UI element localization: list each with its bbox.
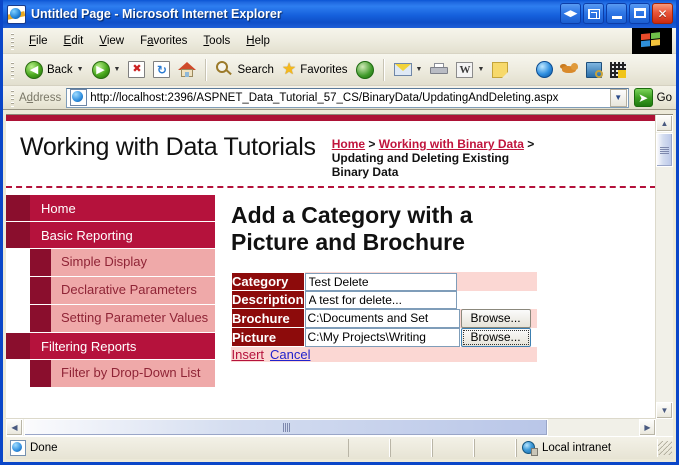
encarta-icon — [610, 62, 626, 78]
table-row: Description — [232, 291, 537, 309]
sidebar-item-label: Declarative Parameters — [51, 277, 215, 304]
notes-icon — [492, 62, 508, 78]
history-button[interactable] — [352, 57, 378, 83]
windows-flag-icon — [641, 32, 663, 50]
sidebar-tab-accent — [30, 360, 51, 387]
sidebar-nav: Home Basic Reporting Simple Display Decl… — [6, 188, 219, 388]
back-button[interactable]: ◀ Back ▼ — [21, 57, 88, 83]
horizontal-scrollbar[interactable]: ◀ ▶ — [6, 418, 656, 436]
page-content: Working with Data Tutorials Home > Worki… — [6, 115, 656, 419]
sidebar-tab-accent — [30, 277, 51, 304]
category-input[interactable] — [305, 273, 457, 291]
description-input[interactable] — [305, 291, 457, 309]
menu-file[interactable]: File — [21, 32, 56, 50]
breadcrumb-sep-1: > — [365, 137, 379, 151]
restore-window-button[interactable] — [583, 3, 604, 24]
maximize-button[interactable] — [629, 3, 650, 24]
menu-file-label-rest: ile — [36, 35, 48, 47]
forward-dropdown-icon[interactable]: ▼ — [114, 66, 121, 73]
insert-link[interactable]: Insert — [232, 347, 265, 362]
menu-favorites[interactable]: Favorites — [132, 32, 195, 50]
page-viewport: Working with Data Tutorials Home > Worki… — [6, 114, 673, 436]
sidebar-item-label: Setting Parameter Values — [51, 305, 215, 332]
category-field-cell — [304, 273, 457, 291]
table-row: Brochure C:\Documents and Set Browse... — [232, 309, 537, 328]
category-label: Category — [232, 273, 305, 291]
table-row: Category — [232, 273, 537, 291]
breadcrumb-sep-2: > — [524, 137, 534, 151]
menu-view[interactable]: View — [91, 32, 132, 50]
minimize-button[interactable] — [606, 3, 627, 24]
refresh-button[interactable]: ↻ — [149, 57, 174, 83]
status-panel-3 — [432, 439, 474, 457]
forward-button[interactable]: ▶ ▼ — [88, 57, 125, 83]
main-content: Add a Category with a Picture and Brochu… — [219, 188, 656, 362]
page-header: Working with Data Tutorials Home > Worki… — [6, 121, 656, 188]
history-icon — [356, 61, 374, 79]
favorites-button-label: Favorites — [300, 64, 347, 76]
sidebar-item-setting-parameter-values[interactable]: Setting Parameter Values — [51, 305, 215, 333]
title-bar: Untitled Page - Microsoft Internet Explo… — [3, 0, 676, 28]
page-done-icon — [10, 440, 26, 456]
messenger-button[interactable] — [532, 57, 557, 83]
windows-logo-animation[interactable] — [632, 28, 672, 54]
status-panel-2 — [390, 439, 432, 457]
scroll-thumb-grip — [660, 147, 669, 154]
breadcrumb-home-link[interactable]: Home — [332, 137, 365, 151]
picture-file-path[interactable]: C:\My Projects\Writing — [305, 328, 460, 347]
browser-toolbar: ◀ Back ▼ ▶ ▼ ✖ ↻ Search ★ Favorites — [3, 54, 676, 86]
search-icon — [216, 61, 233, 78]
search-button-label: Search — [237, 64, 273, 76]
window-title: Untitled Page - Microsoft Internet Explo… — [31, 7, 282, 21]
back-arrow-icon: ◀ — [25, 61, 43, 79]
scroll-thumb-grip — [283, 423, 290, 432]
browser-window: Untitled Page - Microsoft Internet Explo… — [0, 0, 679, 465]
brochure-browse-button[interactable]: Browse... — [461, 309, 531, 328]
status-bar: Done Local intranet — [6, 436, 673, 459]
table-row: Picture C:\My Projects\Writing Browse... — [232, 328, 537, 347]
horizontal-scroll-thumb[interactable] — [24, 419, 548, 436]
page-title: Add a Category with a Picture and Brochu… — [231, 202, 511, 256]
go-button[interactable]: ➤ Go — [634, 88, 672, 107]
restore-group-button[interactable]: ◀▶ — [560, 3, 581, 24]
edit-word-icon: W — [456, 62, 473, 78]
brochure-field-cell: C:\Documents and Set Browse... — [304, 309, 537, 328]
breadcrumb-current: Updating and Deleting Existing Binary Da… — [332, 151, 509, 179]
sidebar-item-label: Filter by Drop-Down List — [51, 360, 215, 387]
row-spacer — [457, 291, 537, 309]
address-label: Address — [19, 92, 61, 104]
mail-dropdown-icon[interactable]: ▼ — [416, 66, 423, 73]
address-url-text: http://localhost:2396/ASPNET_Data_Tutori… — [90, 92, 609, 104]
mail-button[interactable]: ▼ — [390, 57, 427, 83]
sidebar-item-filter-by-drop-down-list[interactable]: Filter by Drop-Down List — [51, 360, 215, 388]
cancel-link[interactable]: Cancel — [270, 347, 310, 362]
toolbar-separator — [205, 59, 207, 81]
page-icon — [70, 89, 87, 106]
sidebar-tab-accent — [6, 195, 30, 221]
encarta-button[interactable] — [606, 57, 630, 83]
print-button[interactable] — [426, 57, 452, 83]
sidebar-item-label: Simple Display — [51, 249, 215, 276]
scroll-up-button[interactable]: ▲ — [656, 115, 673, 132]
address-input[interactable]: http://localhost:2396/ASPNET_Data_Tutori… — [66, 88, 628, 108]
status-text: Done — [30, 442, 58, 454]
menu-help[interactable]: Help — [238, 32, 278, 50]
sidebar-item-basic-reporting[interactable]: Basic Reporting — [30, 222, 215, 249]
table-row: InsertCancel — [232, 347, 537, 363]
brochure-file-path[interactable]: C:\Documents and Set — [305, 309, 460, 328]
picture-label: Picture — [232, 328, 305, 347]
security-zone-text: Local intranet — [542, 442, 611, 454]
go-button-label: Go — [657, 92, 672, 104]
sidebar-item-home[interactable]: Home — [30, 195, 215, 222]
window-buttons: ◀▶ ✕ — [560, 3, 673, 24]
media-icon — [586, 62, 602, 78]
form-actions-cell: InsertCancel — [232, 347, 537, 363]
close-button[interactable]: ✕ — [652, 3, 673, 24]
favorites-star-icon: ★ — [282, 62, 296, 78]
forward-arrow-icon: ▶ — [92, 61, 110, 79]
window-resize-grip[interactable] — [658, 441, 672, 455]
description-field-cell — [304, 291, 457, 309]
address-dropdown-icon[interactable]: ▼ — [610, 89, 627, 107]
address-bar: Address http://localhost:2396/ASPNET_Dat… — [3, 86, 676, 110]
vertical-scrollbar[interactable]: ▲ ▼ — [655, 115, 673, 419]
description-label: Description — [232, 291, 305, 309]
back-dropdown-icon[interactable]: ▼ — [77, 66, 84, 73]
sidebar-item-label: Basic Reporting — [30, 228, 133, 243]
row-spacer — [457, 273, 537, 291]
site-title: Working with Data Tutorials — [20, 133, 316, 162]
sidebar-item-simple-display[interactable]: Simple Display — [51, 249, 215, 277]
mail-icon — [394, 63, 412, 76]
menu-bar: File Edit View Favorites Tools Help — [3, 28, 676, 54]
scroll-down-button[interactable]: ▼ — [656, 402, 673, 419]
sidebar-tab-accent — [6, 333, 30, 359]
local-intranet-icon — [522, 441, 537, 455]
scroll-right-button[interactable]: ▶ — [639, 419, 656, 436]
sidebar-tab-accent — [30, 305, 51, 332]
menu-gripper[interactable] — [9, 32, 16, 50]
favorites-button[interactable]: ★ Favorites — [278, 57, 352, 83]
scrollbar-corner — [656, 419, 673, 436]
vertical-scroll-thumb[interactable] — [656, 133, 673, 167]
sidebar-item-declarative-parameters[interactable]: Declarative Parameters — [51, 277, 215, 305]
refresh-icon: ↻ — [153, 61, 170, 78]
page-body: Home Basic Reporting Simple Display Decl… — [6, 188, 656, 388]
picture-field-cell: C:\My Projects\Writing Browse... — [304, 328, 537, 347]
edit-button[interactable]: W ▼ — [452, 57, 488, 83]
fox-icon — [561, 62, 578, 77]
menu-tools[interactable]: Tools — [195, 32, 238, 50]
stop-button[interactable]: ✖ — [124, 57, 149, 83]
menu-edit[interactable]: Edit — [56, 32, 92, 50]
sidebar-tab-accent — [30, 249, 51, 276]
status-message-panel: Done — [6, 440, 348, 456]
sidebar-item-label: Home — [30, 201, 76, 216]
breadcrumb-section-link[interactable]: Working with Binary Data — [379, 137, 524, 151]
messenger-icon — [536, 61, 553, 78]
home-icon — [178, 62, 196, 78]
media-button[interactable] — [582, 57, 606, 83]
brochure-label: Brochure — [232, 309, 305, 328]
search-button[interactable]: Search — [212, 57, 277, 83]
status-panel-4 — [474, 439, 516, 457]
toolbar-gripper[interactable] — [9, 61, 16, 79]
brochure-file-upload: C:\Documents and Set Browse... — [305, 309, 537, 328]
sidebar-item-filtering-reports[interactable]: Filtering Reports — [30, 333, 215, 360]
back-button-label: Back — [47, 64, 73, 76]
picture-browse-button[interactable]: Browse... — [461, 328, 531, 347]
sidebar-tab-accent — [6, 222, 30, 248]
insert-form-table: Category Description — [231, 272, 537, 362]
fox-button[interactable] — [557, 57, 582, 83]
edit-dropdown-icon[interactable]: ▼ — [477, 66, 484, 73]
toolbar-separator-2 — [383, 59, 385, 81]
print-icon — [430, 63, 448, 77]
security-zone-panel[interactable]: Local intranet — [516, 439, 658, 457]
go-arrow-icon: ➤ — [634, 88, 653, 107]
sidebar-item-label: Filtering Reports — [30, 339, 136, 354]
home-button[interactable] — [174, 57, 200, 83]
breadcrumb: Home > Working with Binary Data > Updati… — [332, 137, 542, 179]
status-panel-1 — [348, 439, 390, 457]
scroll-left-button[interactable]: ◀ — [6, 419, 23, 436]
notes-button[interactable] — [488, 57, 512, 83]
stop-icon: ✖ — [128, 61, 145, 78]
ie-page-icon — [7, 5, 26, 24]
address-gripper[interactable] — [9, 89, 16, 107]
picture-file-upload: C:\My Projects\Writing Browse... — [305, 328, 537, 347]
